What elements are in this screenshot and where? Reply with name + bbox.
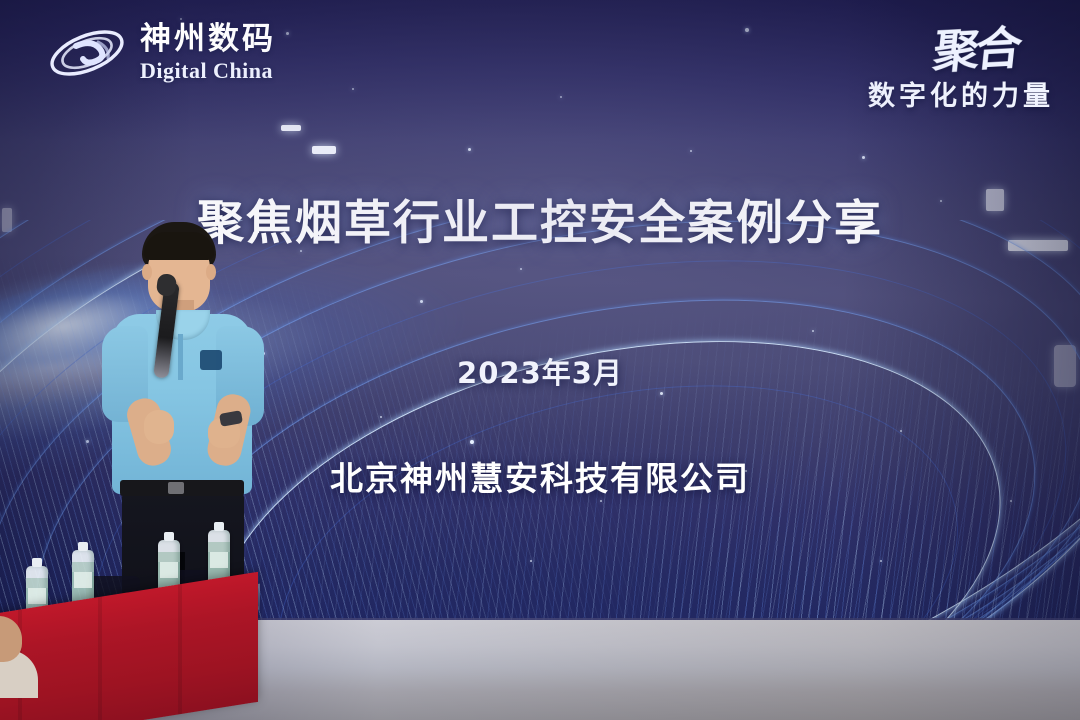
speaker-ear-right <box>206 264 216 280</box>
shirt-placket <box>178 334 183 380</box>
speaker-ear-left <box>142 264 152 280</box>
event-brand-cursive: 聚合 <box>930 12 1022 82</box>
speaker-hair-front <box>144 232 214 260</box>
shirt-chest-logo-icon <box>200 350 222 370</box>
digital-china-logo: 神州数码 Digital China <box>46 22 276 84</box>
presentation-photo: 神州数码 Digital China 聚合 数字化的力量 聚焦烟草行业工控安全案… <box>0 0 1080 720</box>
digital-china-wordmark: 神州数码 Digital China <box>140 24 276 82</box>
logo-name-en: Digital China <box>140 60 276 82</box>
event-brand-logo: 聚合 数字化的力量 <box>868 14 1054 113</box>
digital-china-swirl-icon <box>46 22 128 84</box>
front-row-table <box>0 540 280 720</box>
logo-name-cn: 神州数码 <box>140 24 276 55</box>
speaker-belt-buckle <box>168 482 184 494</box>
speaker-hand-left <box>144 410 174 444</box>
